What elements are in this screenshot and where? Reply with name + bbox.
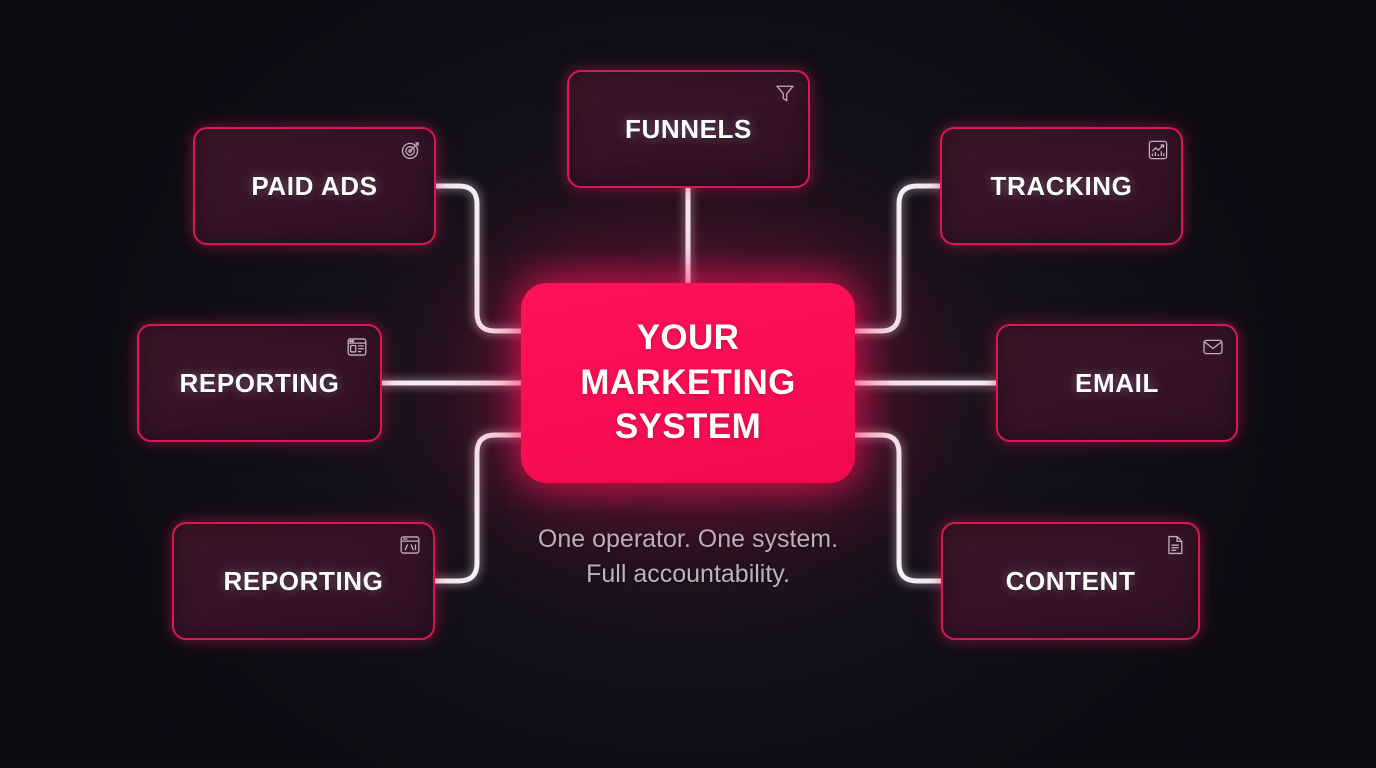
browser-layout-icon [346,336,368,358]
tagline-line-2: Full accountability. [0,557,1376,592]
tagline: One operator. One system. Full accountab… [0,522,1376,591]
node-label: TRACKING [990,171,1132,202]
node-label: FUNNELS [625,114,752,145]
node-label: PAID ADS [251,171,377,202]
envelope-icon [1202,336,1224,358]
node-paid-ads[interactable]: PAID ADS [193,127,436,245]
node-email[interactable]: EMAIL [996,324,1238,442]
funnel-icon [774,82,796,104]
central-line-1: YOUR [580,316,796,360]
tagline-line-1: One operator. One system. [0,522,1376,557]
node-tracking[interactable]: TRACKING [940,127,1183,245]
node-label: REPORTING [180,368,340,399]
target-icon [400,139,422,161]
node-funnels[interactable]: FUNNELS [567,70,810,188]
node-reporting-1[interactable]: REPORTING [137,324,382,442]
mindmap-canvas: PAID ADS FUNNELS TRACKING [0,0,1376,768]
central-line-2: MARKETING [580,361,796,405]
central-line-3: SYSTEM [580,405,796,449]
central-node[interactable]: YOUR MARKETING SYSTEM [521,283,855,483]
node-label: EMAIL [1075,368,1159,399]
central-node-text: YOUR MARKETING SYSTEM [580,316,796,449]
analytics-chart-icon [1147,139,1169,161]
